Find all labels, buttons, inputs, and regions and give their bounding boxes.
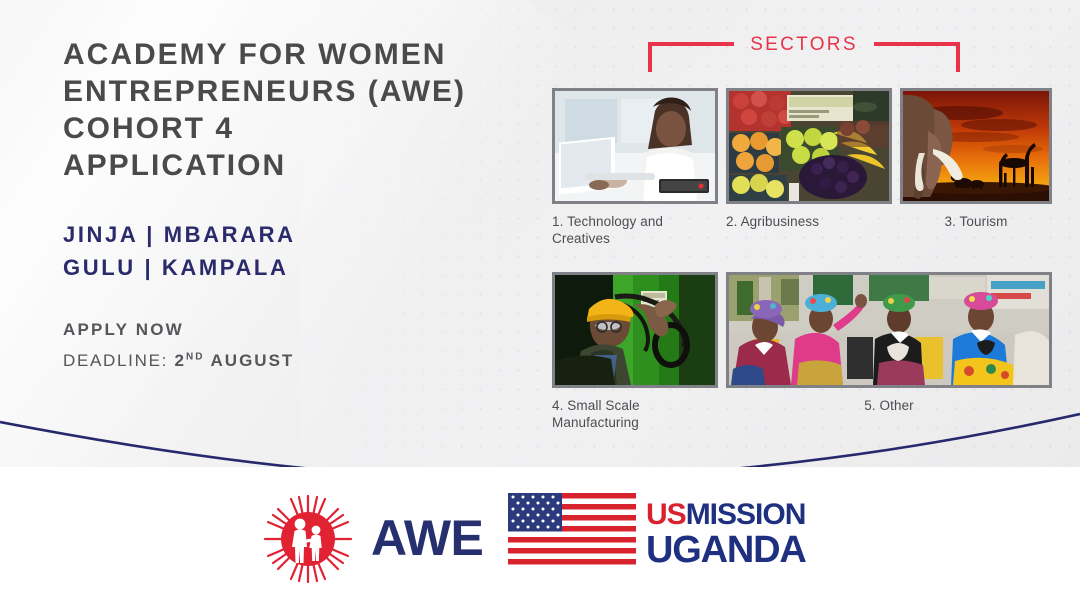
sector-item-technology[interactable]: 1. Technology and Creatives: [552, 88, 718, 247]
sector-thumbnail-agribusiness: [726, 88, 892, 204]
poster-canvas: ACADEMY FOR WOMEN ENTREPRENEURS (AWE) CO…: [0, 0, 1080, 607]
awe-logo[interactable]: AWE: [253, 493, 493, 585]
us-label: US: [646, 498, 686, 531]
us-mission-line: USMISSION: [646, 499, 806, 531]
awe-emblem-icon: [253, 493, 363, 585]
sector-thumbnail-manufacturing: [552, 272, 718, 388]
locations-line-1: JINJA | MBARARA: [63, 218, 533, 251]
deadline-day: 2: [175, 351, 186, 370]
sector-label-technology: 1. Technology and Creatives: [552, 213, 718, 247]
deadline-label: DEADLINE:: [63, 351, 168, 370]
locations-list: JINJA | MBARARA GULU | KAMPALA: [63, 218, 533, 284]
sectors-bracket-right-tick: [956, 42, 960, 72]
deadline-text: DEADLINE: 2ND AUGUST: [63, 351, 533, 371]
locations-line-2: GULU | KAMPALA: [63, 251, 533, 284]
headline-line-3: COHORT 4: [63, 110, 533, 147]
us-mission-uganda-logo[interactable]: USMISSION UGANDA: [508, 493, 823, 585]
sector-label-other: 5. Other: [726, 397, 1052, 414]
deadline-ordinal-suffix: ND: [186, 351, 204, 362]
apply-now-callout: APPLY NOW: [63, 320, 533, 340]
page-title: ACADEMY FOR WOMEN ENTREPRENEURS (AWE) CO…: [63, 36, 533, 184]
headline-line-4: APPLICATION: [63, 147, 533, 184]
left-text-column: ACADEMY FOR WOMEN ENTREPRENEURS (AWE) CO…: [63, 36, 533, 371]
sector-item-agribusiness[interactable]: 2. Agribusiness: [726, 88, 892, 230]
sector-item-other[interactable]: 5. Other: [726, 272, 1052, 414]
sector-thumbnail-other: [726, 272, 1052, 388]
awe-wordmark: AWE: [371, 509, 483, 567]
headline-line-2: ENTREPRENEURS (AWE): [63, 73, 533, 110]
deadline-month: AUGUST: [211, 351, 295, 370]
us-mission-uganda-wordmark: USMISSION UGANDA: [646, 499, 806, 569]
sector-label-agribusiness: 2. Agribusiness: [726, 213, 892, 230]
sector-item-manufacturing[interactable]: 4. Small Scale Manufacturing: [552, 272, 718, 431]
uganda-label: UGANDA: [646, 531, 806, 569]
sector-label-tourism: 3. Tourism: [900, 213, 1052, 230]
sectors-header: SECTORS: [648, 32, 960, 72]
us-flag-icon: [508, 493, 636, 565]
deadline-value: 2ND AUGUST: [175, 351, 295, 370]
sector-thumbnail-tourism: [900, 88, 1052, 204]
headline-line-1: ACADEMY FOR WOMEN: [63, 36, 533, 73]
sector-label-manufacturing: 4. Small Scale Manufacturing: [552, 397, 718, 431]
mission-label: MISSION: [686, 498, 806, 531]
sector-thumbnail-technology: [552, 88, 718, 204]
sectors-bracket-right-line: [874, 42, 960, 46]
sector-item-tourism[interactable]: 3. Tourism: [900, 88, 1052, 230]
footer-logos: AWE: [0, 482, 1080, 607]
